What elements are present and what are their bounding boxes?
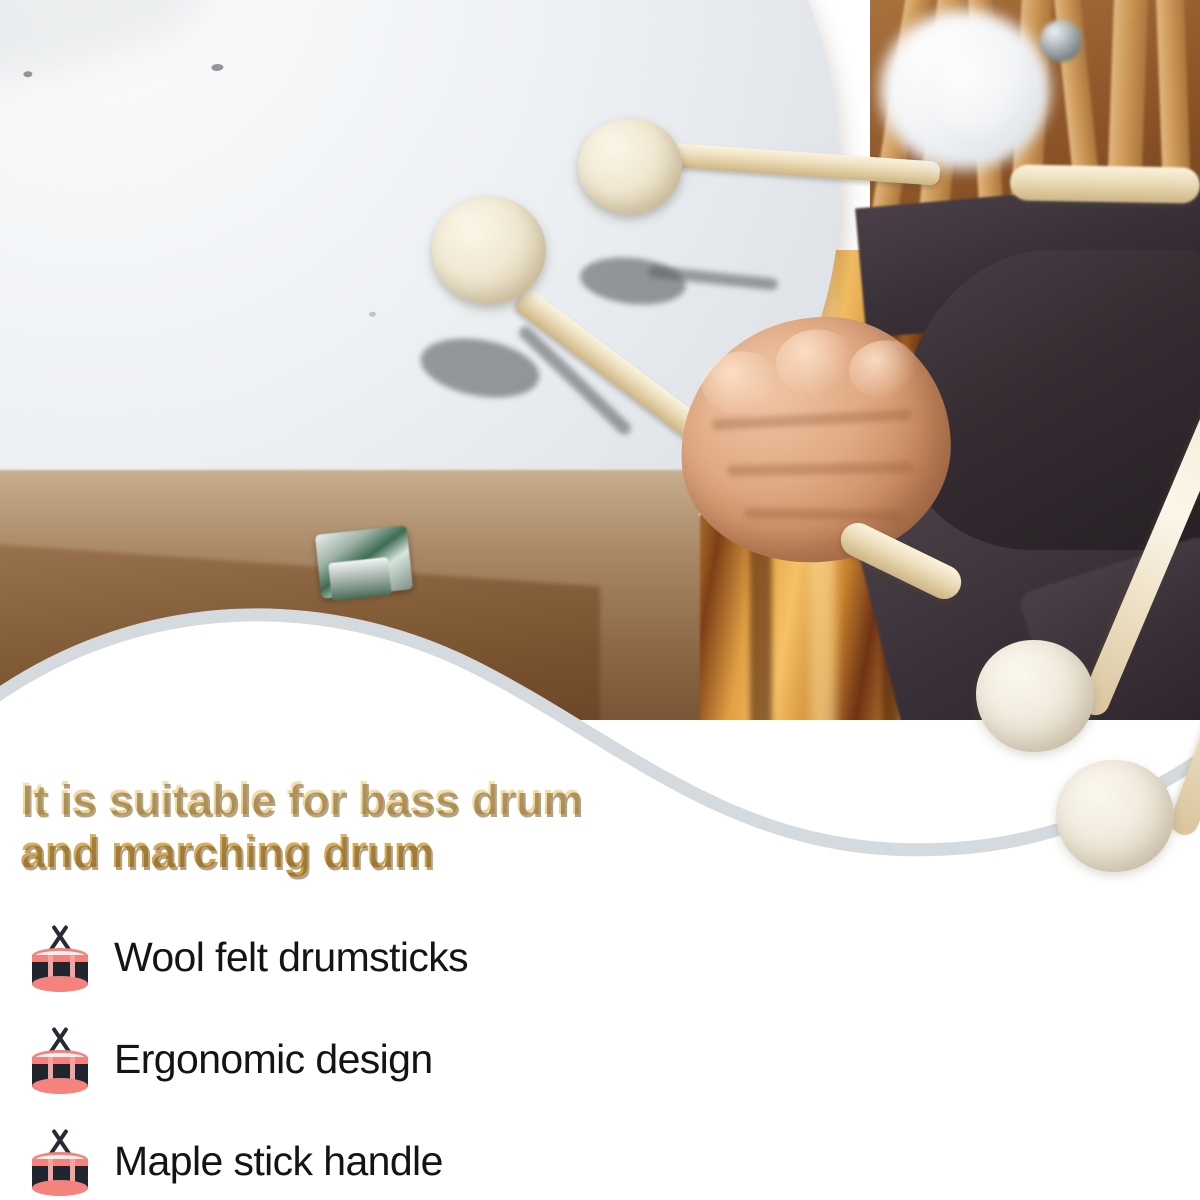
product-banner: It is suitable for bass drum and marchin… bbox=[0, 0, 1200, 1200]
drum-band bbox=[32, 1159, 88, 1166]
drum-icon bbox=[26, 1024, 94, 1094]
drum-band bbox=[32, 1057, 88, 1064]
drum-bottom bbox=[32, 1078, 88, 1094]
text-panel: It is suitable for bass drum and marchin… bbox=[0, 700, 1200, 1200]
drum-bottom bbox=[32, 976, 88, 992]
drum-bottom bbox=[32, 1180, 88, 1196]
feature-label: Wool felt drumsticks bbox=[114, 934, 468, 981]
feature-label: Ergonomic design bbox=[114, 1036, 433, 1083]
feature-item: Ergonomic design bbox=[26, 1024, 433, 1094]
drum-icon bbox=[26, 922, 94, 992]
feature-label: Maple stick handle bbox=[114, 1138, 443, 1185]
feature-item: Maple stick handle bbox=[26, 1126, 443, 1196]
overlay-mallet-shaft bbox=[1077, 340, 1200, 719]
page-title: It is suitable for bass drum and marchin… bbox=[20, 772, 780, 878]
drum-band bbox=[32, 955, 88, 962]
drum-icon bbox=[26, 1126, 94, 1196]
feature-item: Wool felt drumsticks bbox=[26, 922, 468, 992]
